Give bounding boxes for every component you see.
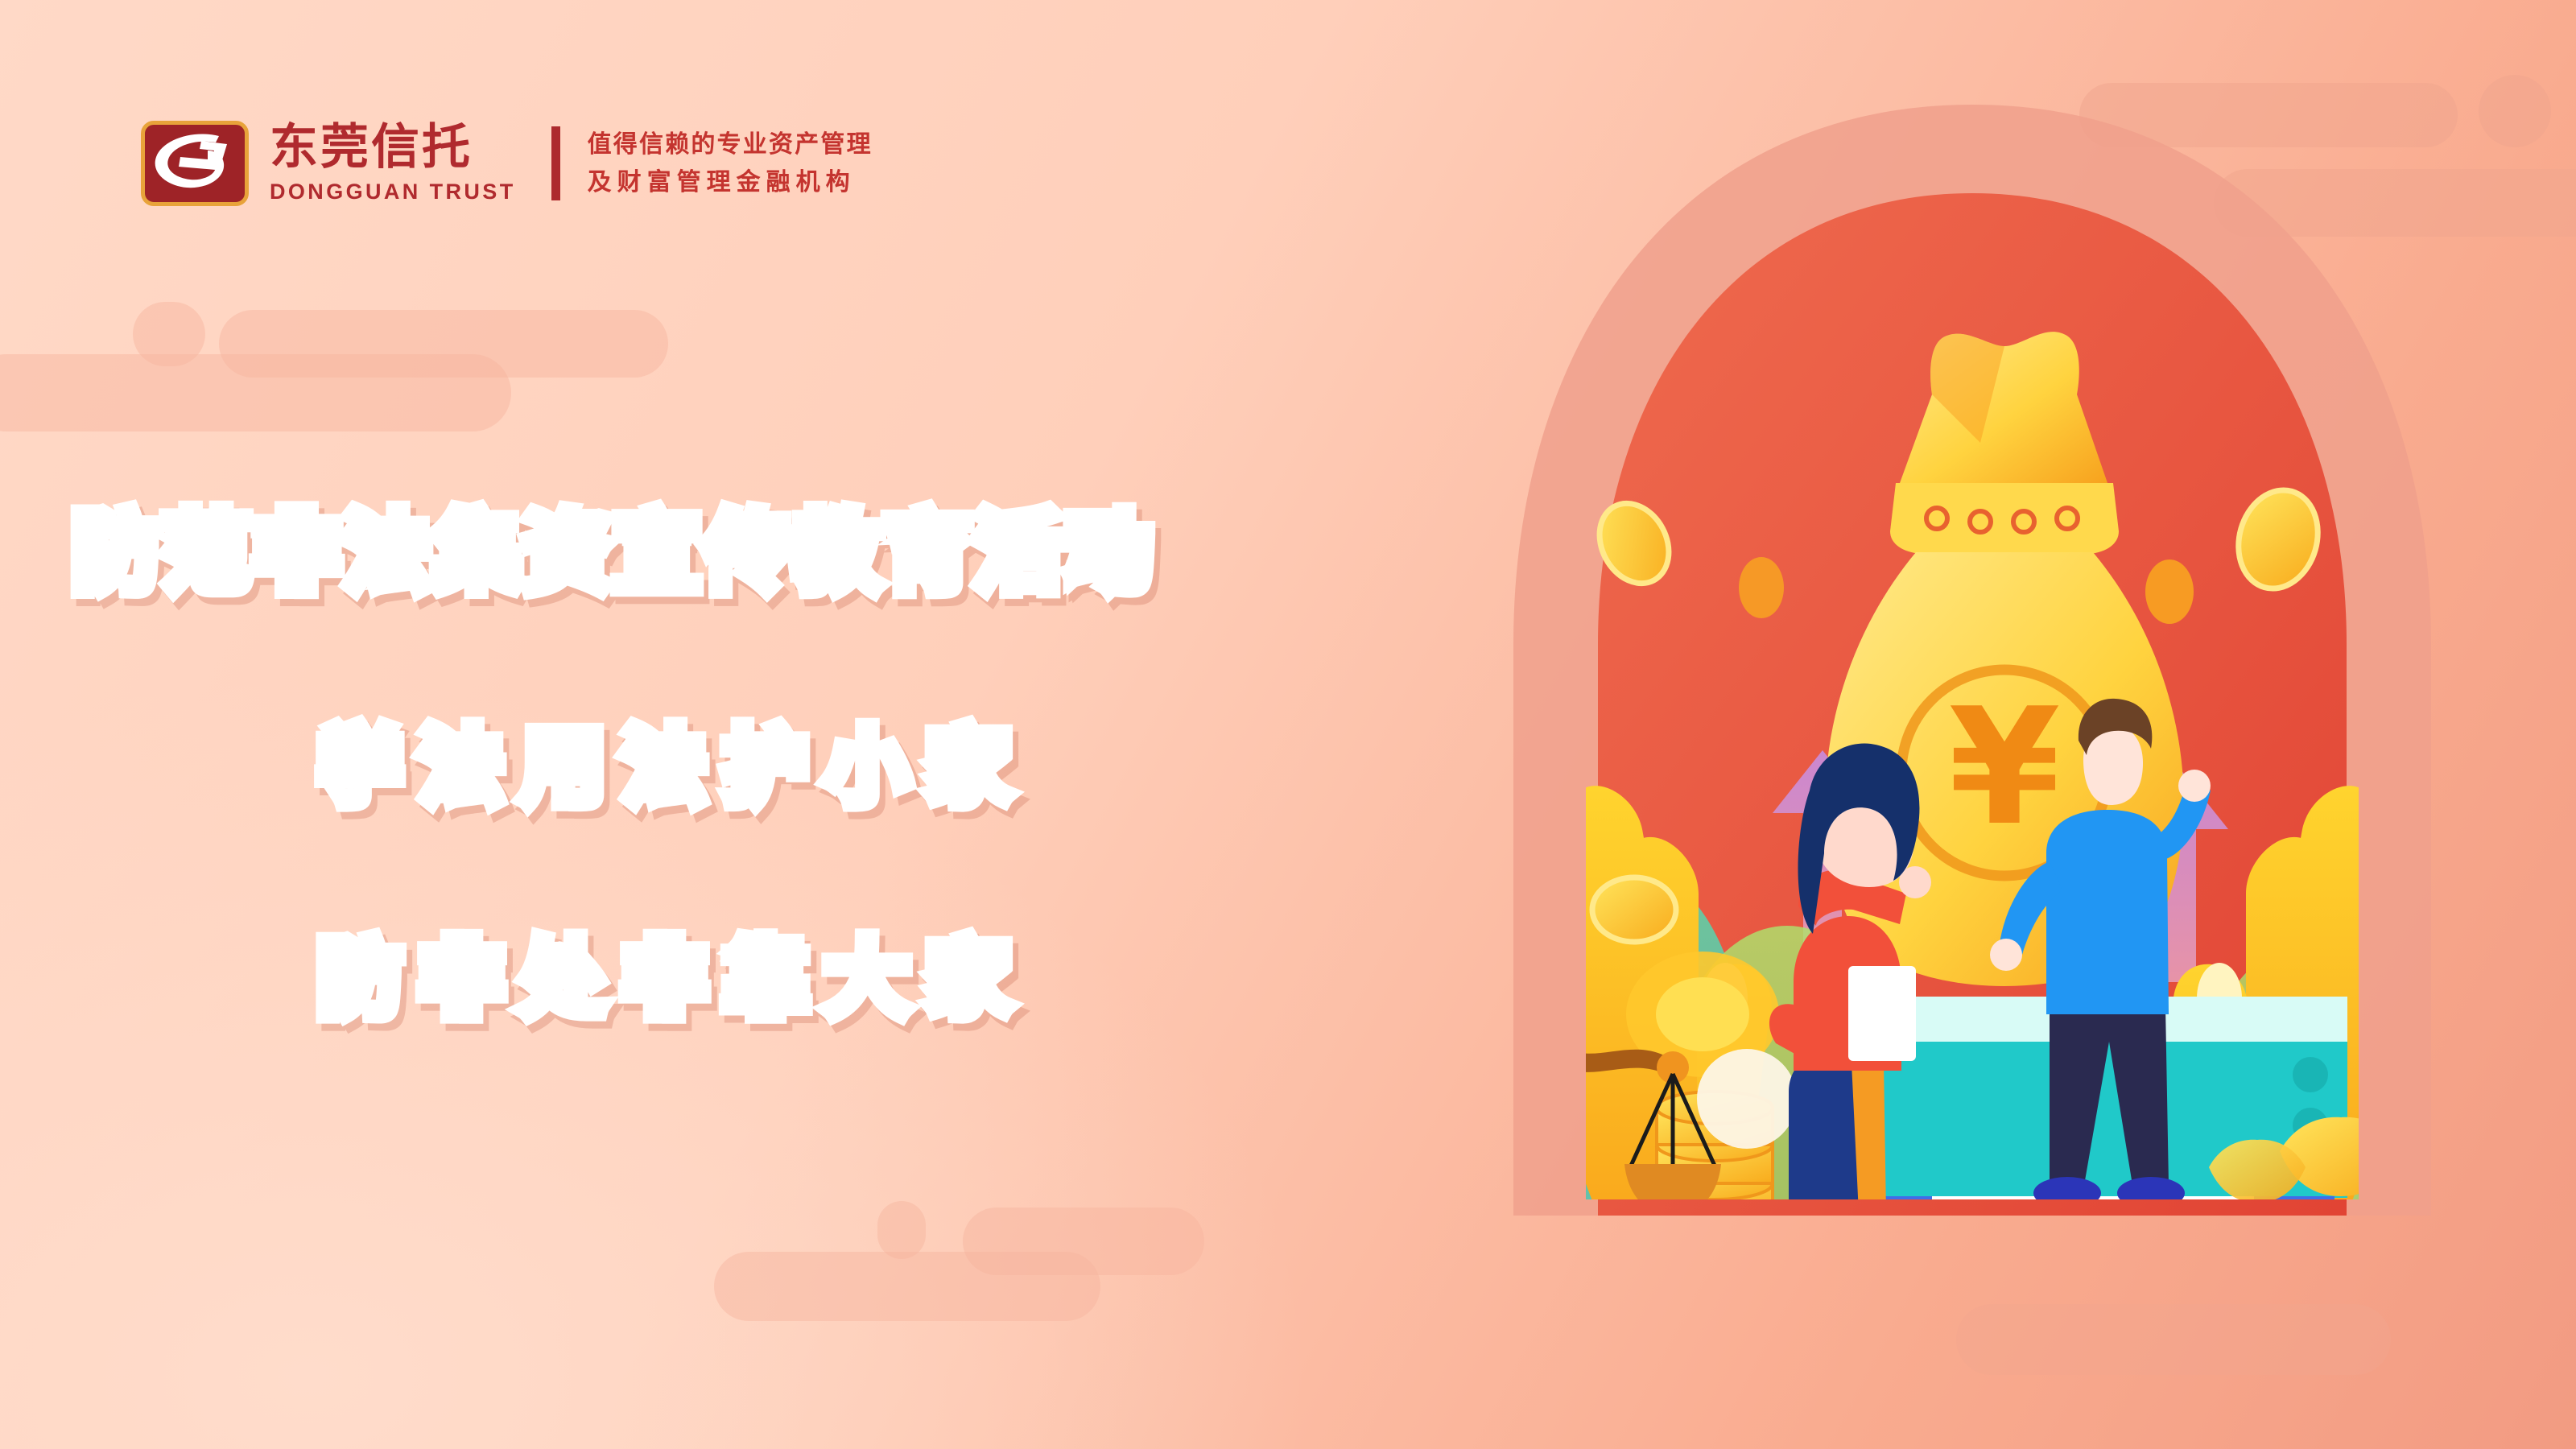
headline-row-1: 防范非法集资宣传教育活动: [0, 483, 1417, 609]
brand-names: 东莞信托 DONGGUAN TRUST: [270, 122, 516, 204]
headline-row-2: 学法用法护小家: [0, 699, 1417, 820]
tagline-line-2: 及财富管理金融机构: [588, 163, 873, 201]
yuan-symbol: ¥: [1948, 674, 2060, 861]
logo-divider: [551, 126, 560, 200]
tagline-line-1: 值得信赖的专业资产管理: [588, 126, 873, 163]
headline-line-3: 防非处非靠大家: [318, 910, 1028, 1032]
dongguan-trust-swirl-logo-icon: [141, 121, 249, 206]
headline-row-3: 防非处非靠大家: [0, 910, 1417, 1032]
brand-logo-lockup: 东莞信托 DONGGUAN TRUST 值得信赖的专业资产管理 及财富管理金融机…: [141, 121, 873, 206]
brand-name-cn: 东莞信托: [270, 122, 516, 173]
headline-block: 防范非法集资宣传教育活动 学法用法护小家 防非处非靠大家: [0, 483, 1417, 1032]
anti-illegal-fundraising-illustration: ¥: [1368, 105, 2576, 1360]
brand-tagline: 值得信赖的专业资产管理 及财富管理金融机构: [588, 126, 873, 202]
promo-banner: 东莞信托 DONGGUAN TRUST 值得信赖的专业资产管理 及财富管理金融机…: [0, 0, 2576, 1449]
decor-bar-mid-left-wide: [0, 354, 511, 431]
decor-bar-bottom-wide: [714, 1252, 1100, 1321]
headline-line-1: 防范非法集资宣传教育活动: [72, 483, 1154, 609]
decor-dot-bottom: [877, 1201, 926, 1259]
brand-name-en: DONGGUAN TRUST: [270, 180, 516, 204]
headline-line-2: 学法用法护小家: [318, 699, 1028, 820]
